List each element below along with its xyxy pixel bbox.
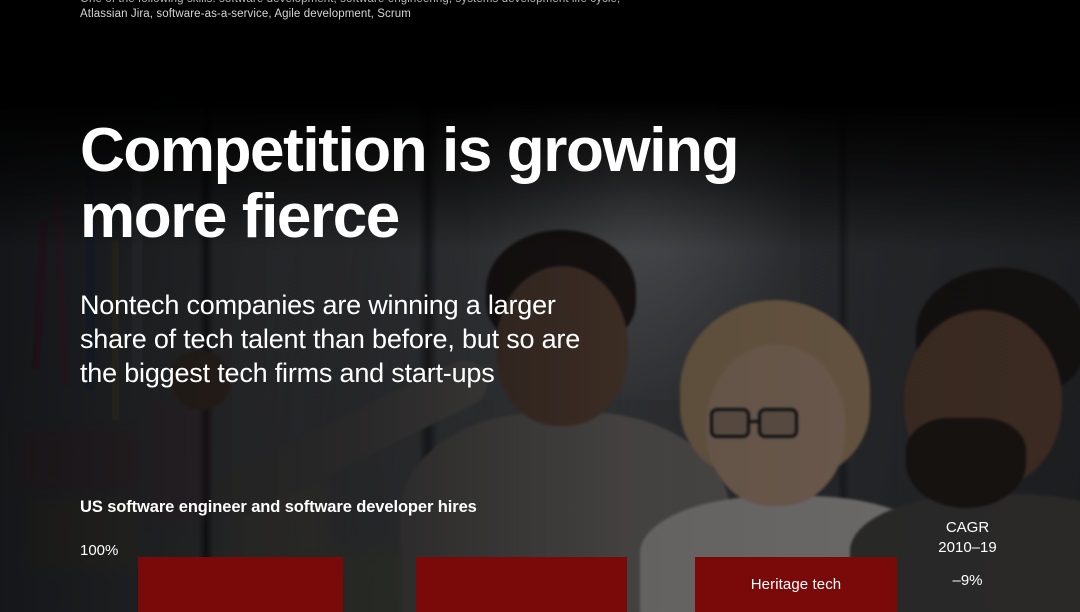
- chart-axis-label: 100%: [80, 542, 118, 559]
- bar-chart: US software engineer and software develo…: [0, 490, 1080, 612]
- chart-title: US software engineer and software develo…: [80, 498, 477, 517]
- cagr-header: CAGR 2010–19: [915, 518, 1020, 558]
- slide-content: Competition is growing more fierce Nonte…: [0, 0, 1080, 612]
- chart-bar[interactable]: [416, 557, 627, 612]
- chart-bar[interactable]: Heritage tech: [695, 557, 897, 612]
- cagr-header-line-1: CAGR: [915, 518, 1020, 538]
- chart-bar[interactable]: [138, 557, 343, 612]
- presentation-slide: One of the following skills: software de…: [0, 0, 1080, 612]
- page-title: Competition is growing more fierce: [80, 118, 840, 249]
- page-subtitle: Nontech companies are winning a larger s…: [80, 288, 600, 390]
- cagr-header-line-2: 2010–19: [915, 538, 1020, 558]
- chart-bar-label: Heritage tech: [751, 576, 842, 593]
- cagr-value: –9%: [915, 572, 1020, 589]
